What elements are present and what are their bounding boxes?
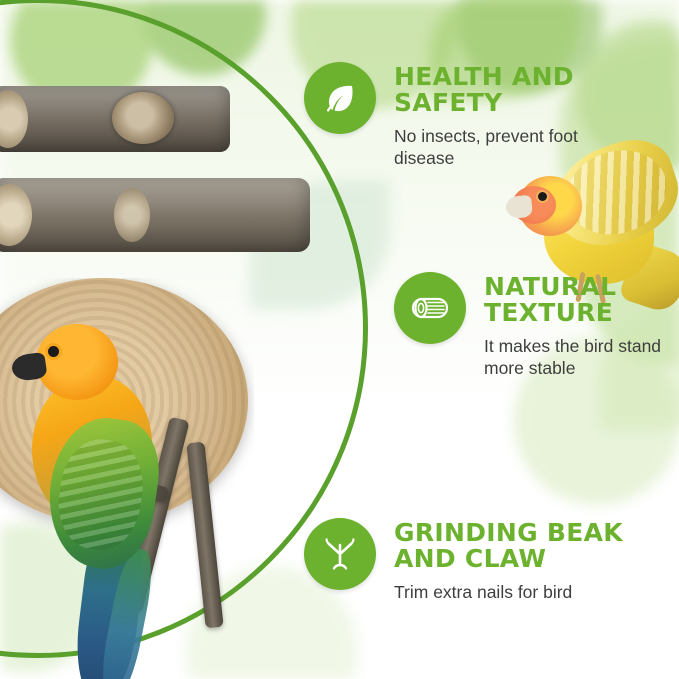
bird-claw-icon (304, 518, 376, 590)
feature-text: HEALTH AND SAFETY No insects, prevent fo… (394, 62, 672, 170)
feature-description: Trim extra nails for bird (394, 581, 632, 604)
feature-natural-texture: NATURAL TEXTURE It makes the bird stand … (394, 272, 672, 380)
lovebird-eye (538, 192, 547, 201)
feature-description: No insects, prevent foot disease (394, 125, 632, 171)
parrot-eye (48, 346, 59, 357)
feature-title: GRINDING BEAK AND CLAW (394, 520, 672, 573)
feature-text: GRINDING BEAK AND CLAW Trim extra nails … (394, 518, 672, 603)
photo-wood-perch-stick-top (0, 86, 230, 152)
wood-log-icon (394, 272, 466, 344)
parrot-head (36, 324, 118, 400)
leaf-icon (304, 62, 376, 134)
photo-sun-conure-parrot (6, 318, 236, 678)
photo-wood-perch-stick-middle (0, 178, 310, 252)
stick-end-grain (0, 90, 28, 148)
feature-health-and-safety: HEALTH AND SAFETY No insects, prevent fo… (304, 62, 672, 170)
feature-title: HEALTH AND SAFETY (394, 64, 672, 117)
product-infographic: HEALTH AND SAFETY No insects, prevent fo… (0, 0, 679, 679)
feature-grinding-beak-and-claw: GRINDING BEAK AND CLAW Trim extra nails … (304, 518, 672, 603)
stick-branch-stub (114, 188, 150, 242)
feature-title: NATURAL TEXTURE (484, 274, 672, 327)
feature-text: NATURAL TEXTURE It makes the bird stand … (484, 272, 672, 380)
feature-description: It makes the bird stand more stable (484, 335, 672, 381)
stick-end-grain (0, 184, 32, 246)
stick-knot (112, 92, 174, 144)
